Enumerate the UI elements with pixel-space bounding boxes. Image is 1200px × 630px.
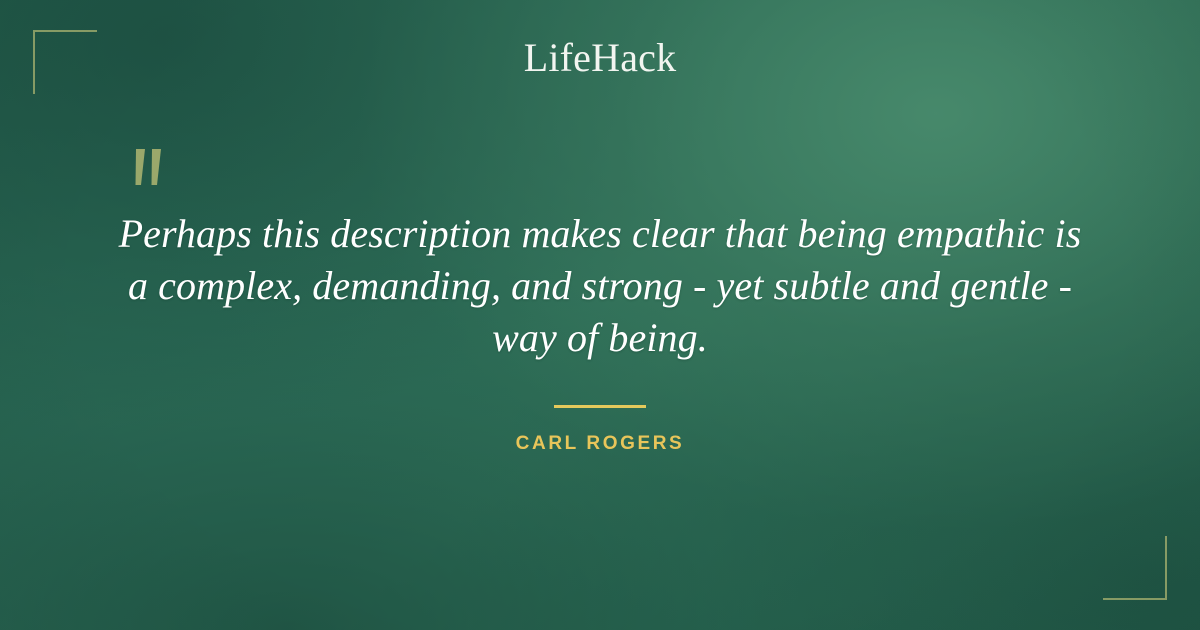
quote-line-3: way of being.	[90, 312, 1110, 364]
attribution-block: CARL ROGERS	[0, 405, 1200, 453]
brand-name: LifeHack	[0, 38, 1200, 78]
quote-body: Perhaps this description makes clear tha…	[90, 208, 1110, 364]
quote-line-2: a complex, demanding, and strong - yet s…	[90, 260, 1110, 312]
quote-line-1: Perhaps this description makes clear tha…	[90, 208, 1110, 260]
attribution-divider	[554, 405, 646, 408]
quote-author: CARL ROGERS	[0, 434, 1200, 453]
brand-logo: LifeHack	[0, 38, 1200, 78]
double-quote-icon	[128, 145, 176, 197]
corner-bracket-bottom-right-icon	[1103, 536, 1167, 600]
quote-card: LifeHack Perhaps this description makes …	[0, 0, 1200, 630]
